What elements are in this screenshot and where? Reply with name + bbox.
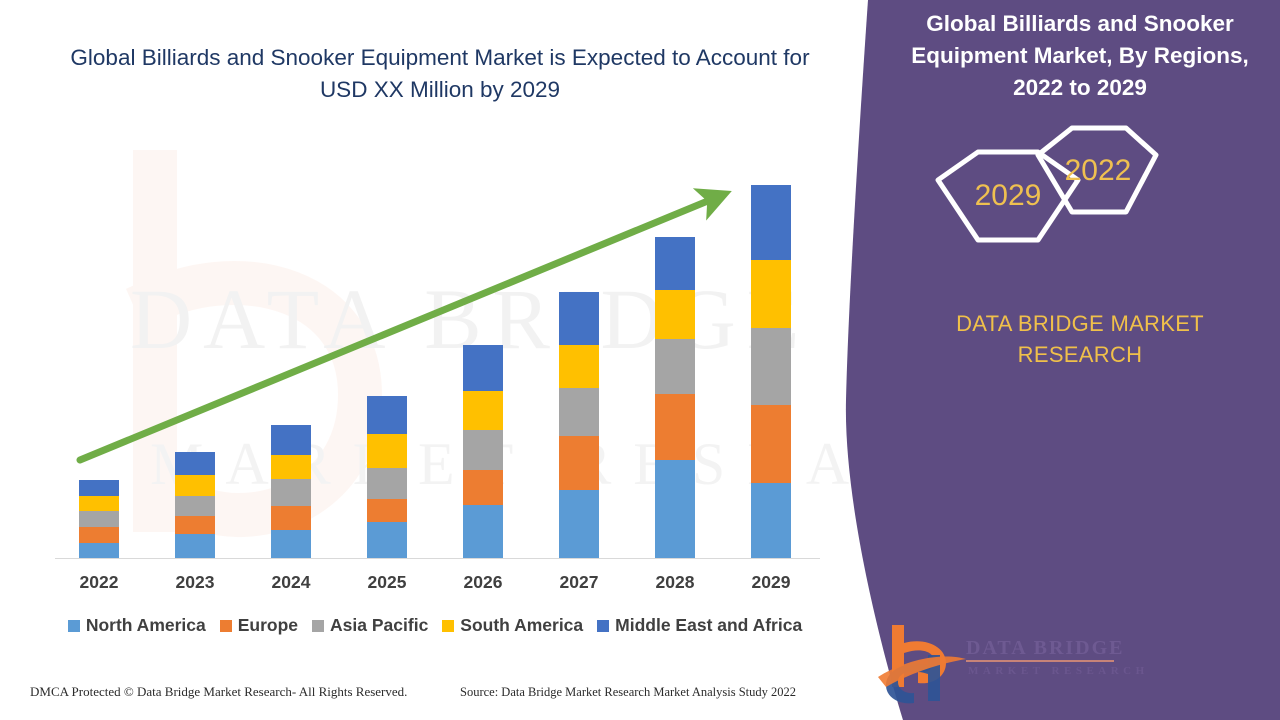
- hexagon-2029: 2029: [938, 152, 1078, 240]
- footer-source-text: Source: Data Bridge Market Research Mark…: [460, 685, 796, 700]
- bar-2027[interactable]: [559, 292, 599, 558]
- bar-segment-europe[interactable]: [463, 470, 503, 505]
- legend-swatch-icon: [68, 620, 80, 632]
- x-axis-line: [55, 558, 820, 559]
- bar-segment-north-america[interactable]: [367, 522, 407, 558]
- legend-swatch-icon: [220, 620, 232, 632]
- bar-2024[interactable]: [271, 425, 311, 558]
- bar-segment-south-america[interactable]: [655, 290, 695, 339]
- legend-label: South America: [460, 615, 583, 636]
- bar-segment-asia-pacific[interactable]: [367, 468, 407, 499]
- bar-segment-south-america[interactable]: [463, 391, 503, 430]
- bar-segment-middle-east-and-africa[interactable]: [655, 237, 695, 290]
- bar-segment-south-america[interactable]: [751, 260, 791, 328]
- bar-segment-north-america[interactable]: [271, 530, 311, 558]
- logo-word-bottom: MARKET RESEARCH: [968, 665, 1149, 677]
- bar-segment-north-america[interactable]: [175, 534, 215, 558]
- bar-segment-asia-pacific[interactable]: [271, 479, 311, 506]
- brand-name: DATA BRIDGE MARKET RESEARCH: [900, 308, 1260, 370]
- bar-segment-middle-east-and-africa[interactable]: [559, 292, 599, 345]
- legend-swatch-icon: [312, 620, 324, 632]
- brand-line-1: DATA BRIDGE MARKET: [956, 311, 1204, 336]
- x-tick-2024: 2024: [243, 572, 339, 593]
- bar-segment-asia-pacific[interactable]: [463, 430, 503, 470]
- bar-segment-europe[interactable]: [367, 499, 407, 522]
- bar-2028[interactable]: [655, 237, 695, 558]
- x-tick-2027: 2027: [531, 572, 627, 593]
- x-tick-2028: 2028: [627, 572, 723, 593]
- bar-segment-europe[interactable]: [175, 516, 215, 534]
- legend-item-middle-east-and-africa[interactable]: Middle East and Africa: [597, 615, 802, 636]
- x-tick-2023: 2023: [147, 572, 243, 593]
- bar-2023[interactable]: [175, 452, 215, 558]
- legend-swatch-icon: [442, 620, 454, 632]
- bar-segment-europe[interactable]: [751, 405, 791, 483]
- bar-segment-south-america[interactable]: [271, 455, 311, 479]
- bar-chart-plot-area: [55, 170, 825, 560]
- panel-title: Global Billiards and Snooker Equipment M…: [890, 8, 1270, 104]
- bar-segment-south-america[interactable]: [175, 475, 215, 496]
- legend-item-asia-pacific[interactable]: Asia Pacific: [312, 615, 428, 636]
- legend-swatch-icon: [597, 620, 609, 632]
- bar-segment-south-america[interactable]: [367, 434, 407, 468]
- bar-segment-europe[interactable]: [655, 394, 695, 460]
- hexagon-year-badges: 2029 2022: [900, 120, 1260, 290]
- bar-segment-asia-pacific[interactable]: [655, 339, 695, 394]
- bar-segment-asia-pacific[interactable]: [559, 388, 599, 436]
- legend-label: Asia Pacific: [330, 615, 428, 636]
- bar-segment-asia-pacific[interactable]: [175, 496, 215, 516]
- data-bridge-logo: DATA BRIDGE MARKET RESEARCH: [870, 615, 1150, 705]
- legend-item-north-america[interactable]: North America: [68, 615, 206, 636]
- bar-segment-asia-pacific[interactable]: [751, 328, 791, 405]
- footer-dmca-text: DMCA Protected © Data Bridge Market Rese…: [30, 684, 407, 700]
- legend-label: North America: [86, 615, 206, 636]
- bar-segment-north-america[interactable]: [655, 460, 695, 558]
- bar-segment-middle-east-and-africa[interactable]: [79, 480, 119, 496]
- bar-segment-north-america[interactable]: [463, 505, 503, 558]
- bar-segment-middle-east-and-africa[interactable]: [463, 345, 503, 391]
- logo-word-top: DATA BRIDGE: [966, 637, 1125, 660]
- x-tick-2026: 2026: [435, 572, 531, 593]
- x-tick-2029: 2029: [723, 572, 819, 593]
- chart-legend: North AmericaEuropeAsia PacificSouth Ame…: [40, 615, 830, 636]
- bar-2026[interactable]: [463, 345, 503, 558]
- bar-segment-asia-pacific[interactable]: [79, 511, 119, 527]
- brand-line-2: RESEARCH: [1018, 342, 1143, 367]
- bar-2022[interactable]: [79, 480, 119, 558]
- legend-label: Middle East and Africa: [615, 615, 802, 636]
- logo-divider-rule: [966, 660, 1114, 662]
- legend-item-europe[interactable]: Europe: [220, 615, 298, 636]
- x-tick-2022: 2022: [51, 572, 147, 593]
- legend-item-south-america[interactable]: South America: [442, 615, 583, 636]
- bar-segment-north-america[interactable]: [79, 543, 119, 558]
- bar-segment-north-america[interactable]: [751, 483, 791, 558]
- bar-segment-middle-east-and-africa[interactable]: [271, 425, 311, 455]
- slide-canvas: DATA BRIDGE MARKET RESEARCH Global Billi…: [0, 0, 1280, 720]
- x-axis-labels: 20222023202420252026202720282029: [55, 572, 825, 602]
- bar-segment-europe[interactable]: [79, 527, 119, 543]
- bar-segment-middle-east-and-africa[interactable]: [751, 185, 791, 260]
- bar-segment-south-america[interactable]: [559, 345, 599, 388]
- bar-segment-north-america[interactable]: [559, 490, 599, 558]
- bar-segment-middle-east-and-africa[interactable]: [175, 452, 215, 475]
- bar-2025[interactable]: [367, 396, 407, 558]
- bar-2029[interactable]: [751, 185, 791, 558]
- bar-segment-europe[interactable]: [271, 506, 311, 530]
- hexagon-2029-label: 2029: [975, 179, 1042, 212]
- legend-label: Europe: [238, 615, 298, 636]
- bar-segment-south-america[interactable]: [79, 496, 119, 511]
- bar-segment-europe[interactable]: [559, 436, 599, 490]
- hexagon-2022-label: 2022: [1065, 154, 1132, 187]
- hexagon-2022: 2022: [1038, 128, 1156, 212]
- x-tick-2025: 2025: [339, 572, 435, 593]
- right-panel-content: Global Billiards and Snooker Equipment M…: [880, 0, 1280, 720]
- bar-segment-middle-east-and-africa[interactable]: [367, 396, 407, 434]
- chart-title: Global Billiards and Snooker Equipment M…: [60, 42, 820, 106]
